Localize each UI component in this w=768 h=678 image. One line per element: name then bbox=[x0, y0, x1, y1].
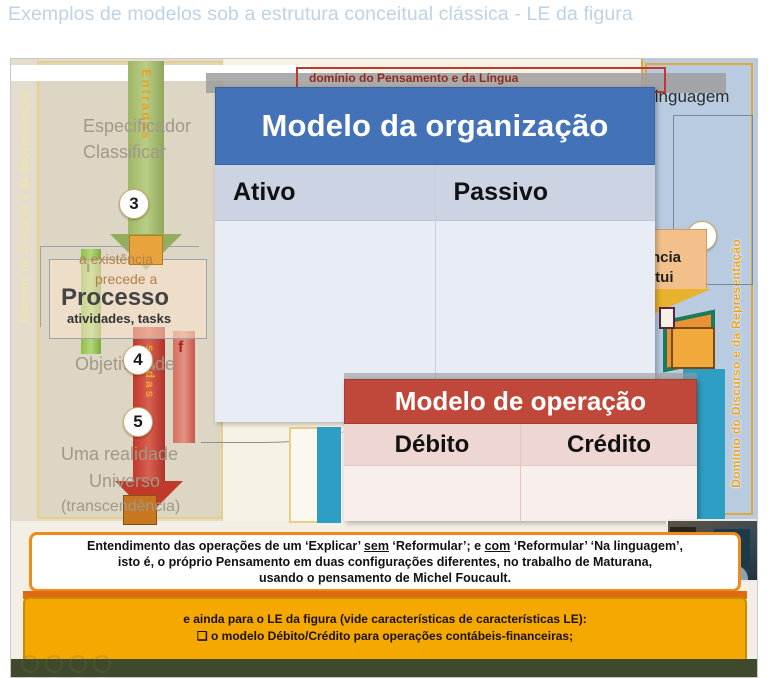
callout-entendimento: Entendimento das operações de um ‘Explic… bbox=[29, 532, 741, 592]
dominio-pensamento-label: domínio do Pensamento e da Língua bbox=[309, 71, 518, 85]
modelo-operacao-header: Modelo de operação bbox=[344, 379, 697, 424]
overlay-icon-3 bbox=[69, 655, 87, 673]
label-uma-realidade: Uma realidade bbox=[61, 444, 178, 465]
callout-line1-b: ‘Reformular’; e bbox=[389, 539, 485, 553]
label-classificar: Classificar bbox=[83, 142, 166, 163]
column-header-passivo: Passivo bbox=[436, 165, 656, 221]
step-badge-5-left: 5 bbox=[123, 407, 153, 437]
callout-le-figura-text: e ainda para o LE da figura (vide caract… bbox=[183, 611, 587, 645]
overlay-icon-1 bbox=[21, 655, 39, 673]
callout-line1-a: Entendimento das operações de um ‘Explic… bbox=[87, 539, 364, 553]
callout-orange-line1: e ainda para o LE da figura (vide caract… bbox=[183, 612, 587, 626]
bottom-strip bbox=[11, 659, 758, 678]
column-body-debito bbox=[344, 466, 520, 521]
modelo-operacao-body: Débito Crédito bbox=[344, 424, 697, 521]
label-existencia: a existência bbox=[79, 251, 153, 267]
callout-line3: usando o pensamento de Michel Foucault. bbox=[259, 571, 511, 585]
label-processo: Processo bbox=[61, 284, 169, 312]
label-ncia: ncia bbox=[651, 249, 681, 266]
modelo-organizacao-header: Modelo da organização bbox=[215, 87, 655, 165]
decorative-polygon-orange bbox=[671, 327, 715, 369]
column-header-credito: Crédito bbox=[521, 424, 697, 466]
modelo-organizacao-title: Modelo da organização bbox=[262, 108, 609, 144]
f-label: f bbox=[178, 339, 183, 357]
callout-entendimento-text: Entendimento das operações de um ‘Explic… bbox=[87, 538, 683, 586]
vertical-label-left: Domínio do Discurso e da Representação bbox=[19, 89, 31, 322]
callout-orange-line2: ❑ o modelo Débito/Crédito para operações… bbox=[197, 629, 573, 643]
label-transcendencia: (transcendência) bbox=[61, 498, 180, 516]
decorative-strip-yellow bbox=[289, 427, 319, 523]
callout-line1-sem: sem bbox=[364, 539, 389, 553]
column-body-credito bbox=[521, 466, 697, 521]
label-especificador: Especificador bbox=[83, 116, 191, 137]
output-arrow bbox=[173, 331, 195, 443]
label-universo: Universo bbox=[89, 471, 160, 492]
modelo-operacao-table: Modelo de operação Débito Crédito bbox=[344, 379, 697, 521]
callout-line1-c: ‘Reformular’ ‘Na linguagem’, bbox=[510, 539, 683, 553]
overlay-icon-4 bbox=[93, 655, 111, 673]
label-linguagem: linguagem bbox=[651, 87, 729, 107]
step-badge-4: 4 bbox=[123, 345, 153, 375]
modelo-operacao-title: Modelo de operação bbox=[395, 386, 646, 417]
column-credito: Crédito bbox=[520, 424, 697, 521]
slide-canvas: Domínio do Discurso e da Representação D… bbox=[10, 58, 758, 678]
overlay-icon-2 bbox=[45, 655, 63, 673]
callout-line2: isto é, o próprio Pensamento em duas con… bbox=[118, 555, 652, 569]
callout-line1-com: com bbox=[485, 539, 511, 553]
column-debito: Débito bbox=[344, 424, 520, 521]
faint-overlay-icons bbox=[21, 655, 111, 673]
column-header-ativo: Ativo bbox=[215, 165, 435, 221]
page-title: Exemplos de modelos sob a estrutura conc… bbox=[8, 2, 748, 52]
decorative-strip-blue bbox=[317, 427, 341, 523]
modelo-organizacao-table: Modelo da organização Ativo Passivo Patr… bbox=[215, 87, 655, 422]
decorative-polygon-white bbox=[659, 307, 675, 329]
column-body-passivo bbox=[436, 221, 656, 384]
step-badge-3: 3 bbox=[119, 189, 149, 219]
label-atividades: atividades, tasks bbox=[67, 311, 171, 326]
column-header-debito: Débito bbox=[344, 424, 520, 466]
